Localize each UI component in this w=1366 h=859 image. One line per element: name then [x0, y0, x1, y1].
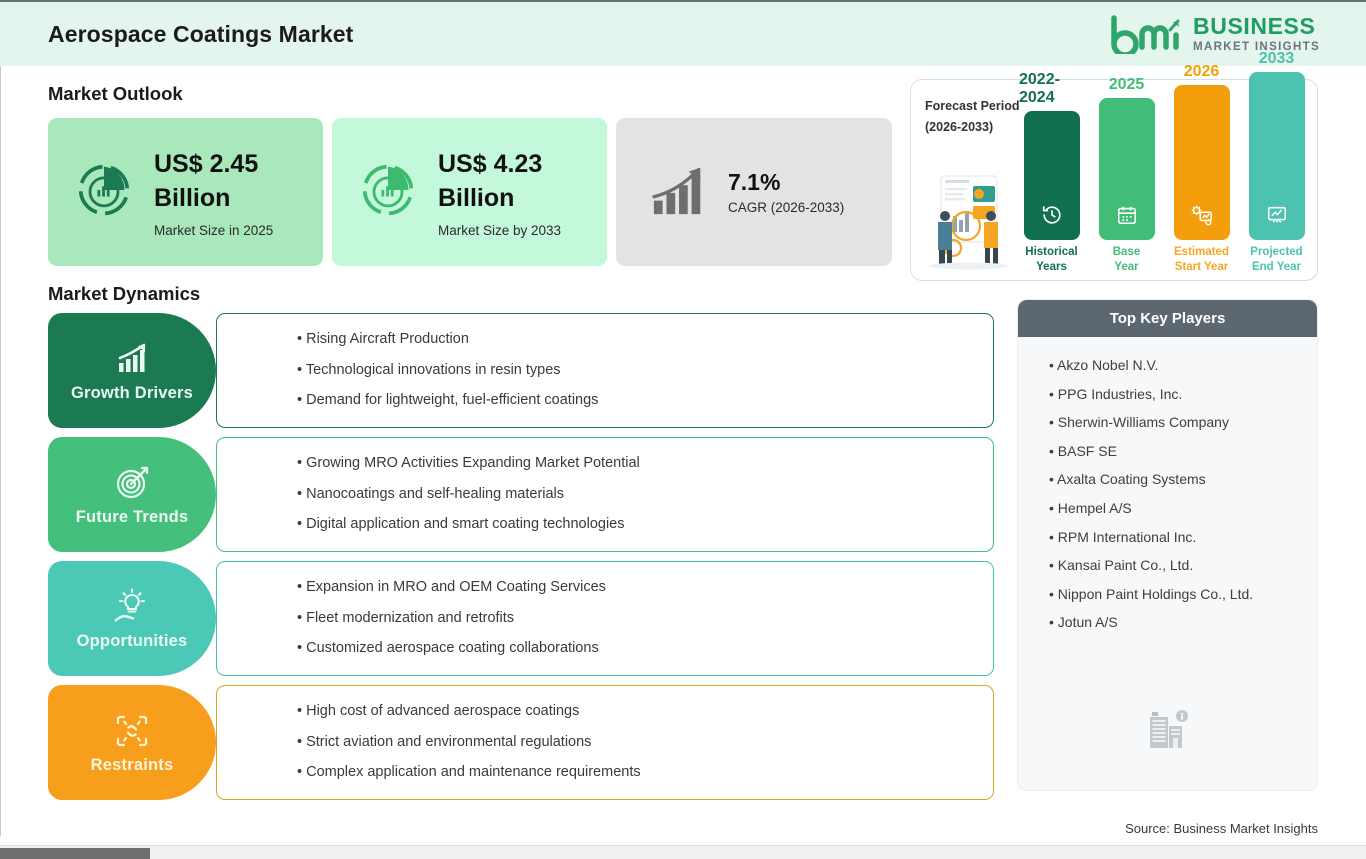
list-item: • Akzo Nobel N.V. [1049, 357, 1317, 373]
dynamics-bullet: • Customized aerospace coating collabora… [297, 640, 975, 657]
forecast-period-panel: Forecast Period (2026-2033) [910, 79, 1318, 281]
list-item: • Kansai Paint Co., Ltd. [1049, 557, 1317, 573]
top-key-players-panel: Top Key Players • Akzo Nobel N.V. • PPG … [1017, 299, 1318, 791]
dynamics-pill-future-trends[interactable]: Future Trends [48, 437, 216, 552]
forecast-caption-line1: Projected [1250, 245, 1302, 260]
target-dart-icon [112, 463, 152, 503]
dynamics-bullet: • Demand for lightweight, fuel-efficient… [297, 392, 975, 409]
forecast-bar-estimated: 2026 Estimated Start Year [1169, 63, 1234, 275]
dynamics-bullet: • Fleet modernization and retrofits [297, 610, 975, 627]
calendar-icon [1116, 204, 1138, 231]
dynamics-label: Restraints [91, 756, 174, 775]
source-note: Source: Business Market Insights [1125, 821, 1318, 836]
forecast-caption-line1: Estimated [1174, 245, 1229, 260]
dynamics-row-restraints: Restraints • High cost of advanced aeros… [48, 685, 994, 800]
list-item: • PPG Industries, Inc. [1049, 386, 1317, 402]
forecast-bars: 2022-2024 Historical Years 2025 [1019, 90, 1311, 275]
players-heading-text: Top Key Players [1110, 310, 1226, 327]
forecast-bar-base: 2025 Base Year [1094, 76, 1159, 275]
forecast-caption: Historical Years [1025, 245, 1077, 275]
dynamics-card-growth-drivers: • Rising Aircraft Production • Technolog… [216, 313, 994, 428]
forecast-bar-historical: 2022-2024 Historical Years [1019, 71, 1084, 275]
company-building-info-icon [1146, 706, 1192, 752]
dynamics-pill-restraints[interactable]: Restraints [48, 685, 216, 800]
dynamics-card-future-trends: • Growing MRO Activities Expanding Marke… [216, 437, 994, 552]
forecast-title-line1: Forecast Period [925, 96, 1019, 117]
dynamics-card-opportunities: • Expansion in MRO and OEM Coating Servi… [216, 561, 994, 676]
forecast-caption-line2: End Year [1250, 260, 1302, 275]
cagr-value: 7.1% [728, 169, 844, 196]
forecast-period-title: Forecast Period (2026-2033) [925, 96, 1019, 137]
market-dynamics-list: Growth Drivers • Rising Aircraft Product… [48, 313, 994, 809]
list-item: • RPM International Inc. [1049, 529, 1317, 545]
stat-value-line2: Billion [438, 181, 561, 216]
infographic-page: Aerospace Coatings Market BUSINESS MARKE… [0, 0, 1366, 859]
scrollbar-thumb[interactable] [0, 848, 150, 859]
forecast-bar-projected: 2033 Projected End Year [1244, 50, 1309, 275]
dynamics-label: Opportunities [77, 632, 188, 651]
history-clock-icon [1041, 204, 1063, 231]
list-item: • Nippon Paint Holdings Co., Ltd. [1049, 586, 1317, 602]
horizontal-scrollbar[interactable] [0, 845, 1366, 859]
forecast-title-line2: (2026-2033) [925, 117, 1019, 138]
stat-value-line1: US$ 4.23 [438, 147, 561, 182]
dynamics-label: Growth Drivers [71, 384, 193, 403]
dynamics-bullet: • Digital application and smart coating … [297, 516, 975, 533]
forecast-caption-line2: Start Year [1174, 260, 1229, 275]
donut-chart-icon [76, 162, 132, 223]
dynamics-bullet: • Rising Aircraft Production [297, 331, 975, 348]
growth-arrow-bars-icon [650, 162, 710, 223]
stat-value-line1: US$ 2.45 [154, 147, 273, 182]
forecast-year: 2033 [1259, 50, 1295, 68]
forecast-caption: Estimated Start Year [1174, 245, 1229, 275]
bmi-logo-icon [1108, 14, 1184, 54]
market-outlook-cards: US$ 2.45 Billion Market Size in 2025 US$… [48, 118, 892, 266]
dynamics-pill-growth-drivers[interactable]: Growth Drivers [48, 313, 216, 428]
dynamics-bullet: • Complex application and maintenance re… [297, 764, 975, 781]
presentation-chart-icon [1266, 204, 1288, 231]
list-item: • BASF SE [1049, 443, 1317, 459]
stat-card-market-size-2033: US$ 4.23 Billion Market Size by 2033 [332, 118, 607, 266]
list-item: • Hempel A/S [1049, 500, 1317, 516]
list-item: • Jotun A/S [1049, 614, 1317, 630]
bar-chart-arrow-icon [112, 339, 152, 379]
forecast-caption: Projected End Year [1250, 245, 1302, 275]
market-dynamics-heading: Market Dynamics [48, 283, 200, 305]
stat-value-line2: Billion [154, 181, 273, 216]
list-item: • Axalta Coating Systems [1049, 471, 1317, 487]
list-item: • Sherwin-Williams Company [1049, 414, 1317, 430]
players-header: Top Key Players [1018, 300, 1317, 337]
cagr-label: CAGR (2026-2033) [728, 200, 844, 215]
left-edge-line [0, 66, 1, 836]
dynamics-bullet: • High cost of advanced aerospace coatin… [297, 703, 975, 720]
team-analytics-illustration [921, 170, 1017, 270]
dynamics-row-opportunities: Opportunities • Expansion in MRO and OEM… [48, 561, 994, 676]
dynamics-row-future-trends: Future Trends • Growing MRO Activities E… [48, 437, 994, 552]
page-title: Aerospace Coatings Market [48, 21, 353, 48]
forecast-bar [1174, 85, 1230, 240]
stat-label: Market Size by 2033 [438, 223, 561, 238]
stat-label: Market Size in 2025 [154, 223, 273, 238]
gear-chart-icon [1190, 204, 1214, 231]
players-list: • Akzo Nobel N.V. • PPG Industries, Inc.… [1018, 337, 1317, 630]
lightbulb-hand-icon [112, 587, 152, 627]
dynamics-bullet: • Strict aviation and environmental regu… [297, 734, 975, 751]
broken-chain-icon [112, 711, 152, 751]
forecast-caption: Base Year [1113, 245, 1141, 275]
stat-card-cagr: 7.1% CAGR (2026-2033) [616, 118, 892, 266]
dynamics-bullet: • Expansion in MRO and OEM Coating Servi… [297, 579, 975, 596]
dynamics-label: Future Trends [76, 508, 189, 527]
dynamics-pill-opportunities[interactable]: Opportunities [48, 561, 216, 676]
donut-chart-icon [360, 162, 416, 223]
forecast-caption-line1: Base [1113, 245, 1141, 260]
forecast-bar [1024, 111, 1080, 240]
forecast-caption-line1: Historical [1025, 245, 1077, 260]
page-header: Aerospace Coatings Market BUSINESS MARKE… [0, 0, 1366, 66]
logo-text-business: BUSINESS [1193, 15, 1320, 38]
dynamics-bullet: • Growing MRO Activities Expanding Marke… [297, 455, 975, 472]
market-outlook-heading: Market Outlook [48, 83, 183, 105]
forecast-caption-line2: Years [1025, 260, 1077, 275]
stat-card-market-size-2025: US$ 2.45 Billion Market Size in 2025 [48, 118, 323, 266]
brand-logo: BUSINESS MARKET INSIGHTS [1108, 14, 1320, 54]
dynamics-card-restraints: • High cost of advanced aerospace coatin… [216, 685, 994, 800]
forecast-year: 2026 [1184, 63, 1220, 81]
forecast-bar [1249, 72, 1305, 240]
forecast-year: 2022-2024 [1019, 71, 1084, 107]
dynamics-bullet: • Nanocoatings and self-healing material… [297, 486, 975, 503]
dynamics-row-growth-drivers: Growth Drivers • Rising Aircraft Product… [48, 313, 994, 428]
forecast-caption-line2: Year [1113, 260, 1141, 275]
dynamics-bullet: • Technological innovations in resin typ… [297, 362, 975, 379]
forecast-bar [1099, 98, 1155, 240]
forecast-year: 2025 [1109, 76, 1145, 94]
